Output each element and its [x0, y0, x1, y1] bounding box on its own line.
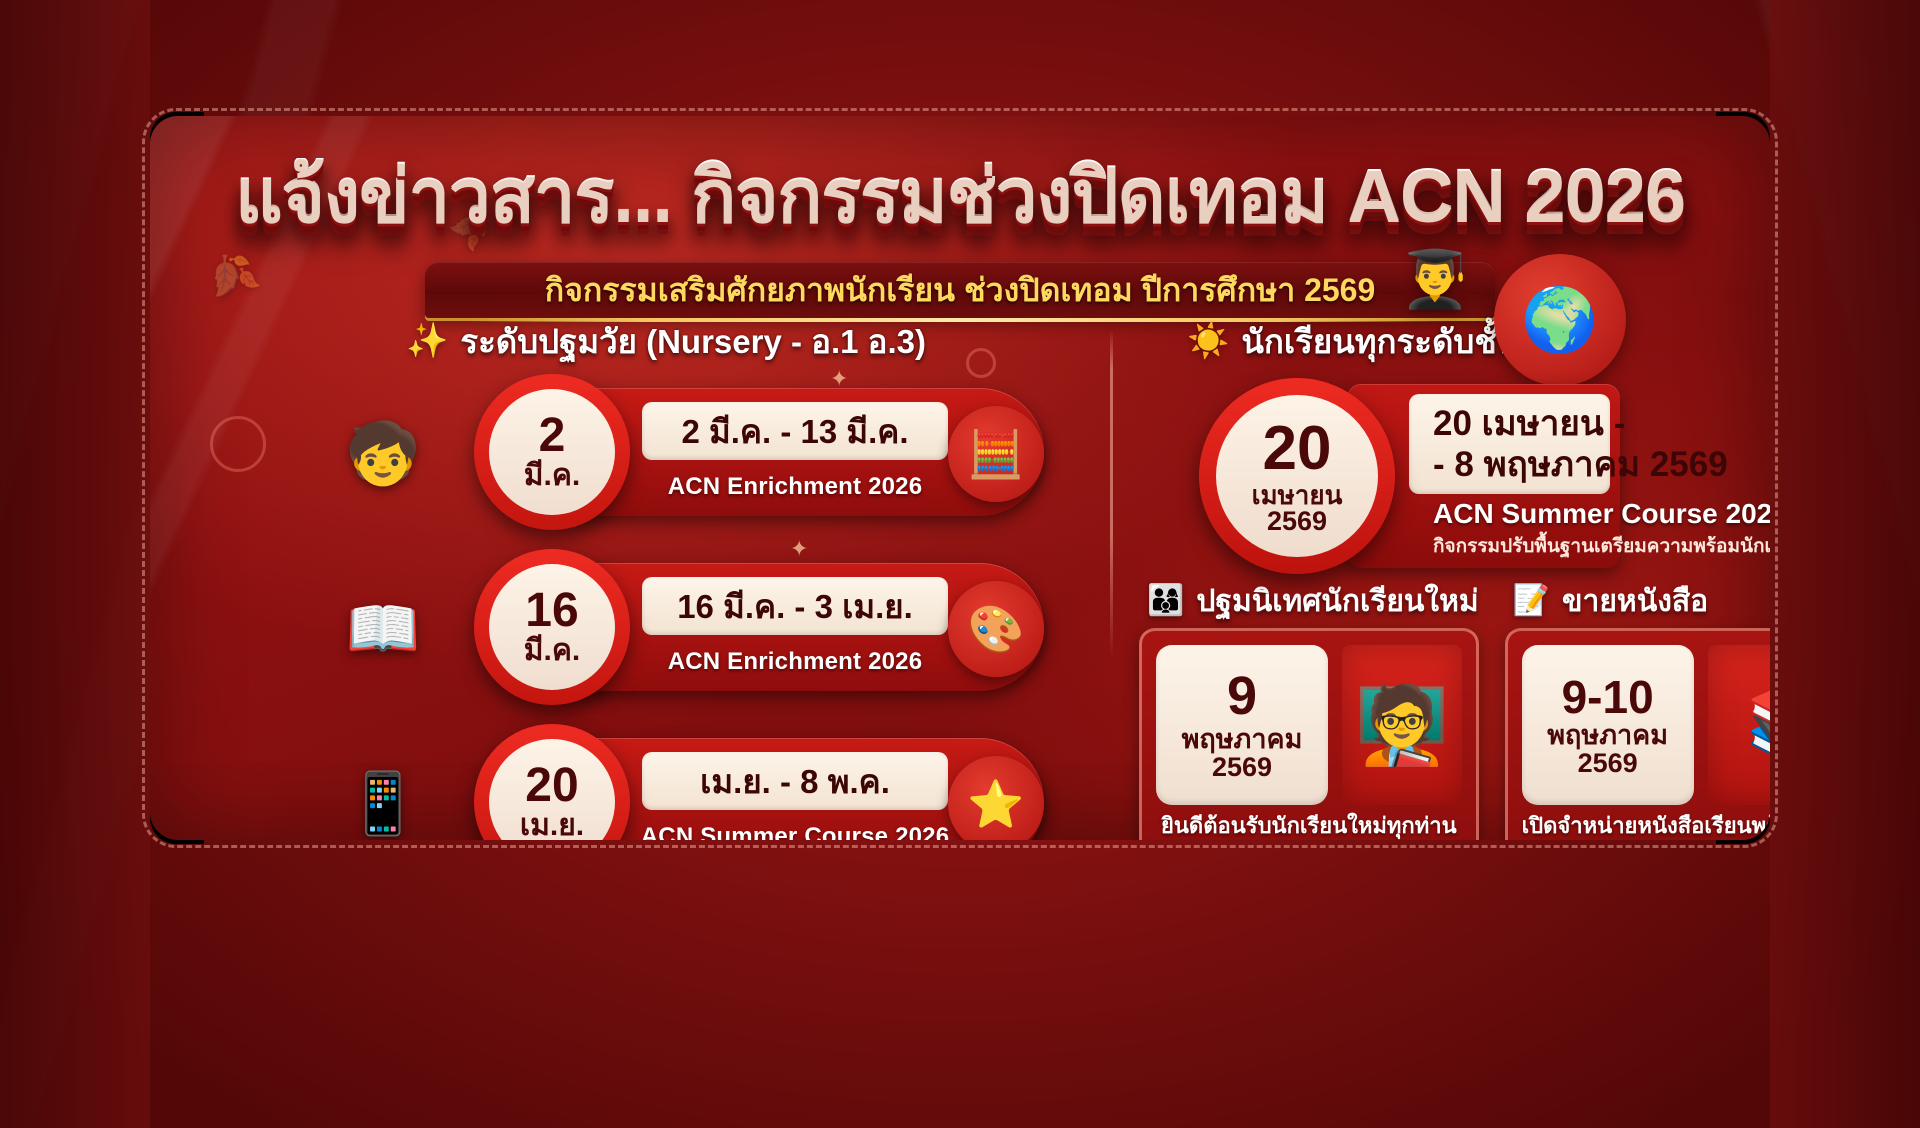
date-badge-inner: 16 มี.ค. — [489, 564, 615, 690]
orientation-header: 👨‍👩‍👦 ปฐมนิเทศนักเรียนใหม่ — [1139, 574, 1479, 628]
program-label: ACN Enrichment 2026 — [642, 643, 948, 681]
orientation-column: 👨‍👩‍👦 ปฐมนิเทศนักเรียนใหม่ 9 พฤษภาคม 256… — [1139, 574, 1479, 840]
date-badge[interactable]: 16 มี.ค. — [474, 549, 630, 705]
summer-course-date-badge-inner: 20 เมษายน 2569 — [1216, 395, 1378, 557]
summer-course-date-badge[interactable]: 20 เมษายน 2569 — [1199, 378, 1395, 574]
content-columns: ✨ ระดับปฐมวัย (Nursery - อ.1 อ.3) 🧒 2 มี… — [328, 312, 1620, 834]
program-label: ACN Enrichment 2026 — [642, 468, 948, 506]
book-sale-date-box: 9-10 พฤษภาคม 2569 — [1522, 645, 1694, 805]
program-label: ACN Summer Course 2026 — [642, 818, 948, 840]
family-icon: 👨‍👩‍👦 — [1147, 586, 1184, 616]
date-year: 2569 — [1578, 749, 1638, 777]
book-sale-caption-bar: เปิดจำหน่ายหนังสือเรียนพร้อมอุปกรณ์ — [1522, 805, 1770, 840]
date-badge-inner: 2 มี.ค. — [489, 389, 615, 515]
date-range-text: เม.ย. - 8 พ.ค. — [700, 755, 890, 808]
date-range-text: 16 มี.ค. - 3 เม.ย. — [677, 580, 913, 633]
badge-number: 20 — [1263, 418, 1332, 480]
nursery-heading: ระดับปฐมวัย (Nursery - อ.1 อ.3) — [460, 315, 926, 368]
notepad-pencil-icon: 📝 — [1513, 586, 1550, 616]
date-number: 9 — [1227, 668, 1257, 725]
children-reading-icon: 📖 — [314, 569, 452, 687]
date-month: พฤษภาคม — [1547, 721, 1668, 749]
abacus-icon: 🧮 — [948, 406, 1044, 502]
subtitle-band: กิจกรรมเสริมศักยภาพนักเรียน ช่วงปิดเทอม … — [425, 262, 1495, 318]
bottom-cards-row: 👨‍👩‍👦 ปฐมนิเทศนักเรียนใหม่ 9 พฤษภาคม 256… — [1139, 574, 1620, 840]
timeline-row[interactable]: 📱 เม.ย. - 8 พ.ค. ACN Summer Course 2026 … — [328, 720, 1090, 840]
orientation-heading: ปฐมนิเทศนักเรียนใหม่ — [1196, 578, 1478, 625]
program-text: ACN Summer Course 2026 — [641, 823, 950, 840]
book-sale-heading: ขายหนังสือ — [1562, 578, 1708, 625]
date-range-plate: เม.ย. - 8 พ.ค. — [642, 752, 948, 810]
date-range-text: 2 มี.ค. - 13 มี.ค. — [681, 405, 908, 458]
program-note: กิจกรรมปรับพื้นฐานเตรียมความพร้อมนักเรีย… — [1433, 531, 1610, 561]
tablet-learning-icon: 📱 — [314, 744, 452, 840]
nursery-section-header: ✨ ระดับปฐมวัย (Nursery - อ.1 อ.3) — [328, 312, 1090, 370]
badge-number: 2 — [539, 412, 566, 461]
badge-unit: มี.ค. — [524, 636, 581, 667]
program-text: ACN Enrichment 2026 — [668, 648, 923, 676]
all-levels-section-header: ☀️ นักเรียนทุกระดับชั้น 👨‍🎓 🌍 — [1139, 312, 1620, 370]
globe-gears-icon: 🌍 — [1494, 254, 1626, 386]
orientation-presentation-icon: 🧑‍🏫 — [1342, 645, 1462, 805]
orientation-card-body: 9 พฤษภาคม 2569 🧑‍🏫 — [1156, 645, 1462, 805]
badge-number: 20 — [525, 762, 578, 811]
date-range-line1: 20 เมษายน - — [1433, 403, 1625, 444]
date-range-line2: - 8 พฤษภาคม 2569 — [1433, 444, 1728, 485]
sun-icon: ☀️ — [1187, 324, 1229, 358]
date-month: พฤษภาคม — [1182, 725, 1303, 753]
badge-month: เมษายน — [1252, 482, 1343, 508]
date-badge[interactable]: 2 มี.ค. — [474, 374, 630, 530]
column-divider — [1110, 330, 1113, 660]
orientation-card[interactable]: 9 พฤษภาคม 2569 🧑‍🏫 ยินดีต้อนรับนักเรียนใ… — [1139, 628, 1479, 840]
bookshelf-desk-icon: 📚 — [1708, 645, 1770, 805]
orientation-caption-bar: ยินดีต้อนรับนักเรียนใหม่ทุกท่าน — [1156, 805, 1462, 840]
students-group-icon: 👨‍🎓 — [1400, 246, 1470, 312]
all-levels-column: ☀️ นักเรียนทุกระดับชั้น 👨‍🎓 🌍 20 เมษายน … — [1139, 312, 1620, 834]
easel-painting-icon: 🎨 — [948, 581, 1044, 677]
date-badge-inner: 20 เม.ย. — [489, 739, 615, 840]
orientation-date-box: 9 พฤษภาคม 2569 — [1156, 645, 1328, 805]
badge-unit: มี.ค. — [524, 461, 581, 492]
ring-decoration — [210, 416, 266, 472]
right-pillar-decoration — [1770, 0, 1920, 1128]
book-sale-header: 📝 ขายหนังสือ — [1505, 574, 1770, 628]
sparkles-icon: ✨ — [406, 324, 448, 358]
children-blocks-icon: 🧒 — [314, 394, 452, 512]
date-year: 2569 — [1212, 753, 1272, 781]
book-sale-card-body: 9-10 พฤษภาคม 2569 📚 — [1522, 645, 1770, 805]
summer-course-date-plate: 20 เมษายน - - 8 พฤษภาคม 2569 — [1409, 394, 1610, 494]
timeline-row[interactable]: 🧒 2 มี.ค. - 13 มี.ค. ACN Enrichment 2026… — [328, 370, 1090, 545]
date-number: 9-10 — [1562, 673, 1654, 721]
date-range-plate: 16 มี.ค. - 3 เม.ย. — [642, 577, 948, 635]
page-subtitle: กิจกรรมเสริมศักยภาพนักเรียน ช่วงปิดเทอม … — [545, 265, 1376, 316]
book-sale-card[interactable]: 9-10 พฤษภาคม 2569 📚 เปิดจำหน่ายหนังสือเร… — [1505, 628, 1770, 840]
orientation-caption: ยินดีต้อนรับนักเรียนใหม่ทุกท่าน — [1161, 808, 1457, 841]
all-levels-heading: นักเรียนทุกระดับชั้น — [1241, 315, 1519, 368]
badge-year: 2569 — [1267, 508, 1327, 535]
page-title: แจ้งข่าวสาร... กิจกรรมช่วงปิดเทอม ACN 20… — [150, 158, 1770, 232]
book-sale-caption: เปิดจำหน่ายหนังสือเรียนพร้อมอุปกรณ์ — [1522, 808, 1770, 841]
program-text: ACN Summer Course 2026 — [1433, 498, 1610, 530]
nursery-column: ✨ ระดับปฐมวัย (Nursery - อ.1 อ.3) 🧒 2 มี… — [328, 312, 1090, 834]
badge-number: 16 — [525, 587, 578, 636]
poster-body: 🍂 🍂 🍂 ✦ ✦ ✦ แจ้งข่าวสาร... กิจกรรมช่วงปิ… — [150, 116, 1770, 840]
program-text: ACN Enrichment 2026 — [668, 473, 923, 501]
left-pillar-decoration — [0, 0, 150, 1128]
summer-course-text-block: ACN Summer Course 2026 กิจกรรมปรับพื้นฐา… — [1409, 498, 1610, 561]
badge-unit: เม.ย. — [520, 811, 584, 840]
date-range-plate: 2 มี.ค. - 13 มี.ค. — [642, 402, 948, 460]
timeline-row[interactable]: 📖 16 มี.ค. - 3 เม.ย. ACN Enrichment 2026… — [328, 545, 1090, 720]
book-sale-column: 📝 ขายหนังสือ 9-10 พฤษภาคม 2569 📚 — [1505, 574, 1770, 840]
